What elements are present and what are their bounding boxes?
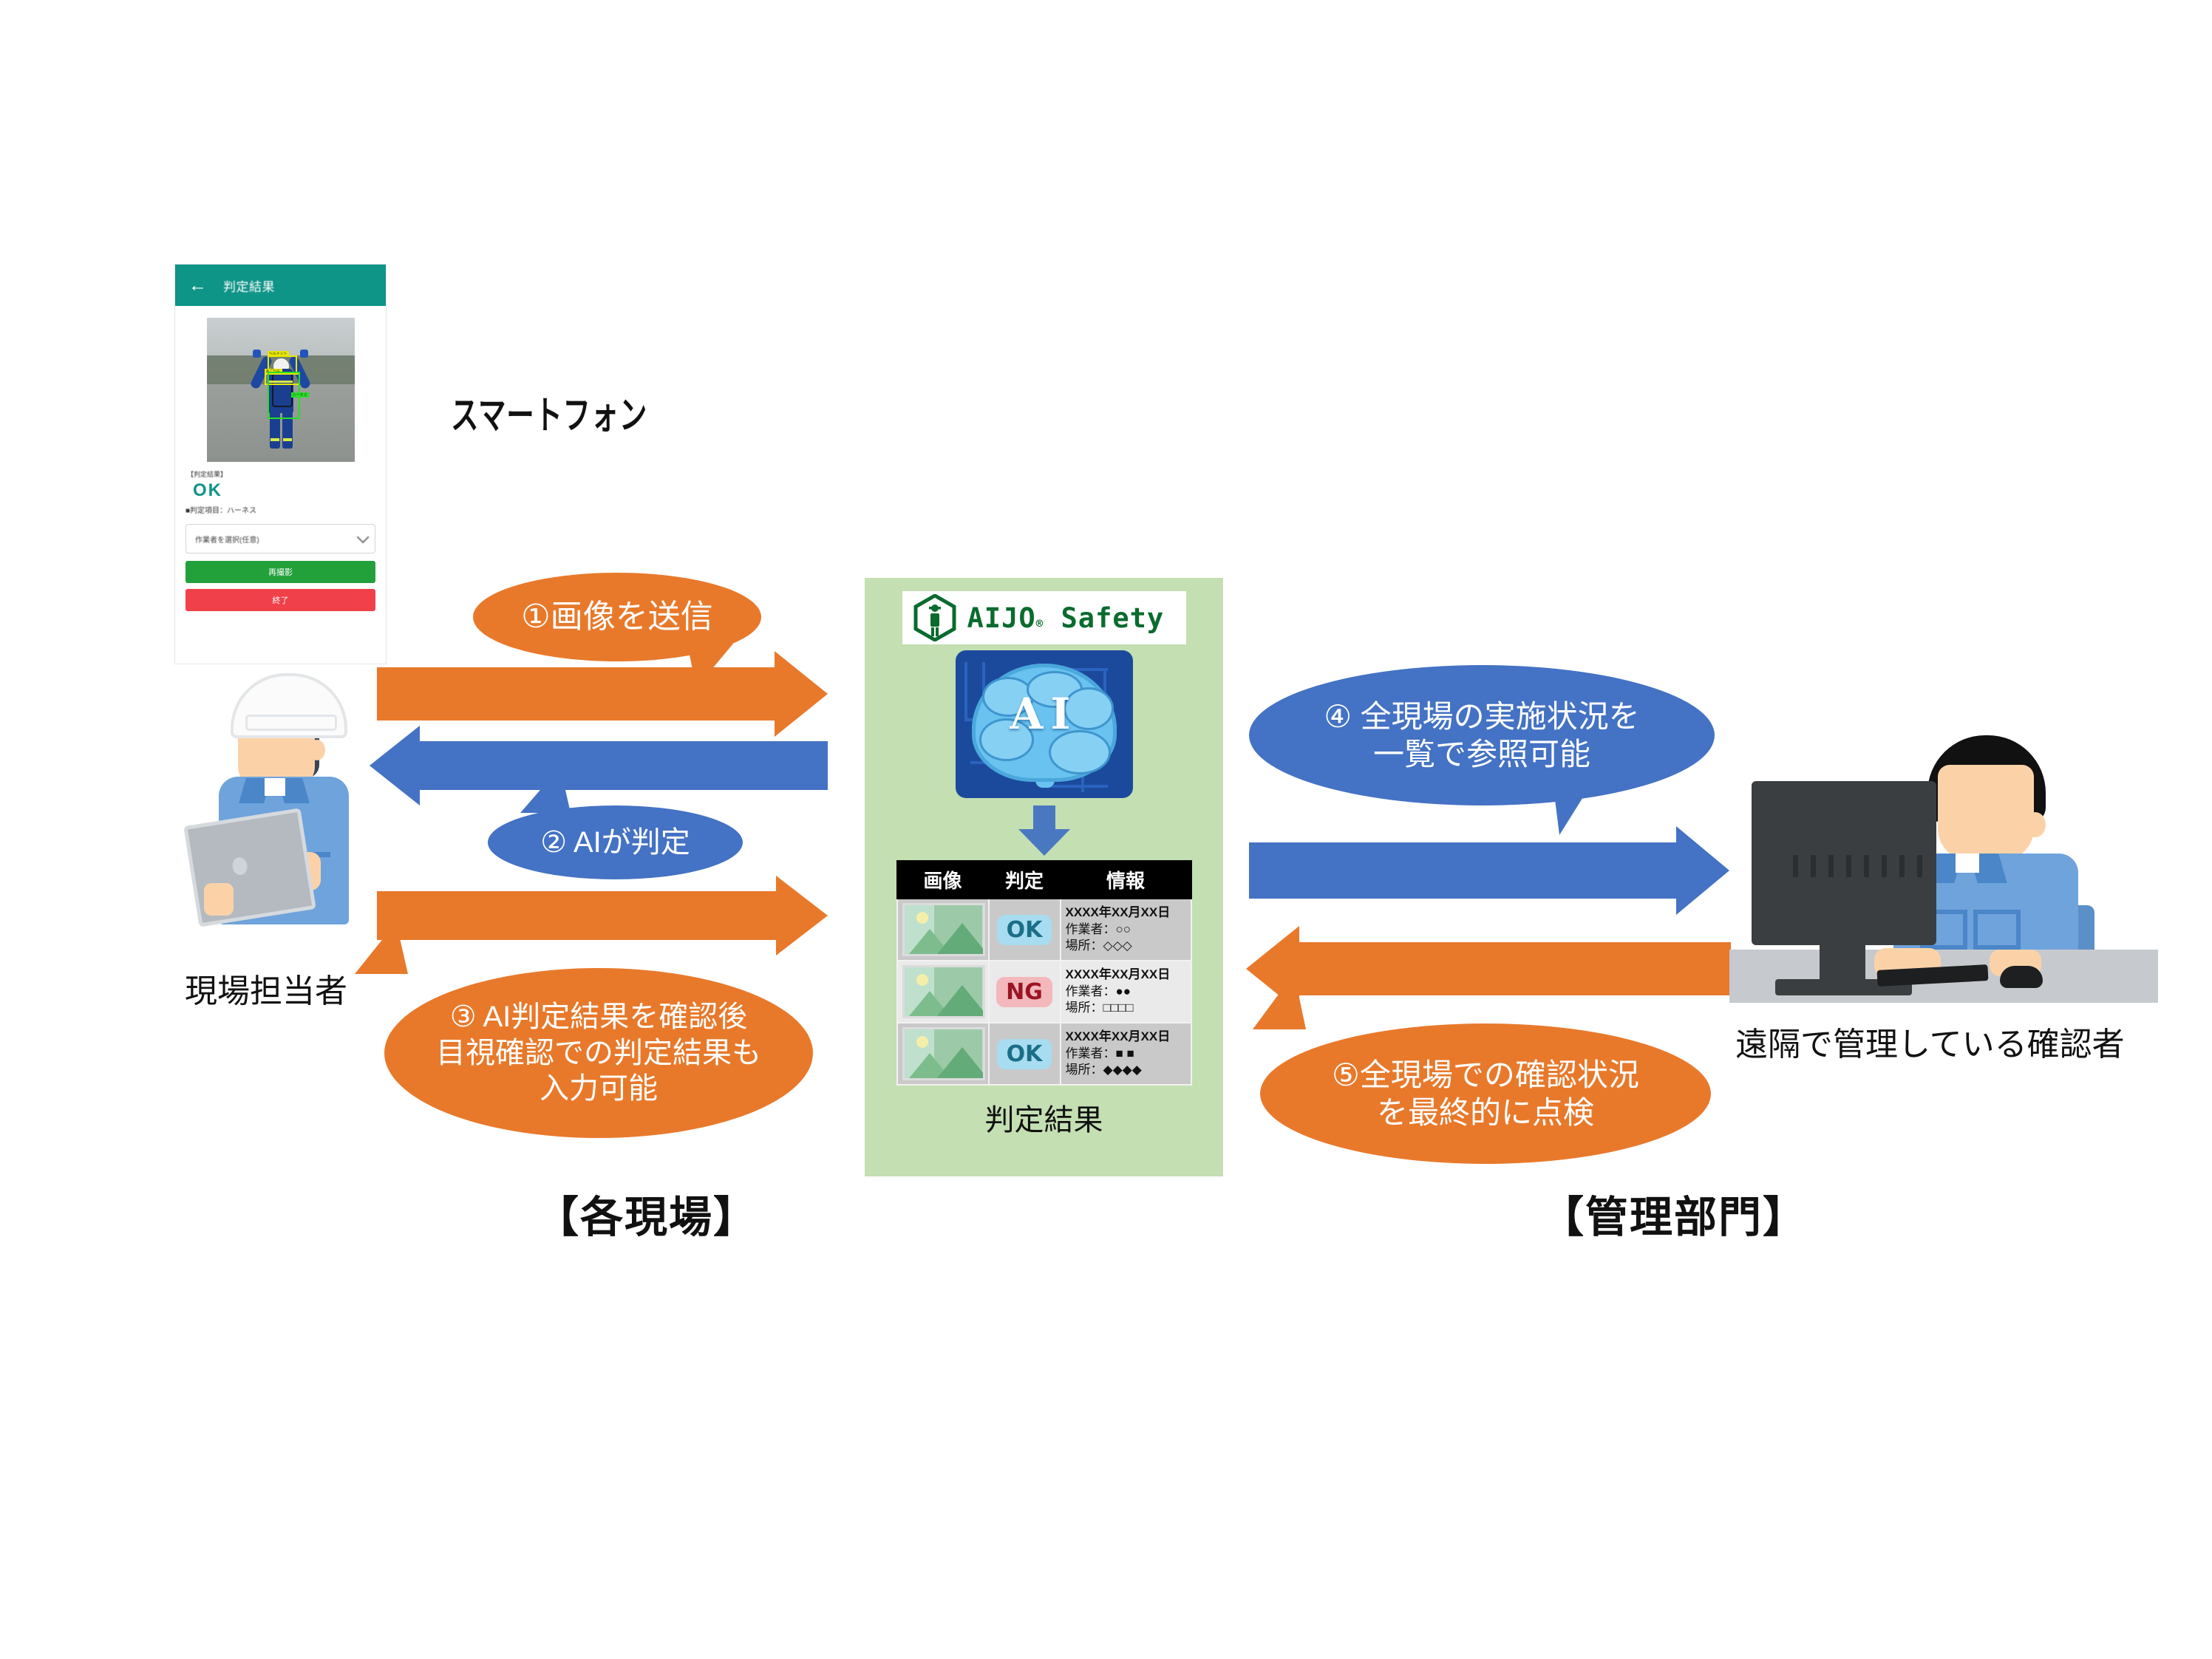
- callout-3-line3: 入力可能: [540, 1071, 658, 1107]
- detection-box-harness: ハーネス: [268, 372, 300, 419]
- judgement-results-table: 画像 判定 情報 OK XXXX年XX月XX日 作業者：○○: [896, 860, 1192, 1086]
- th-image: 画像: [897, 861, 989, 899]
- cell-judge: OK: [989, 1023, 1061, 1085]
- office-worker-illustration: [1729, 735, 2165, 1009]
- ai-system-panel: AIJO® Safety AI 画像 判定 情報: [865, 578, 1223, 1176]
- worker-hexagon-icon: [913, 594, 957, 641]
- callout-3: ③ AI判定結果を確認後 目視確認での判定結果も 入力可能: [384, 968, 813, 1138]
- cell-judge: NG: [989, 961, 1061, 1023]
- phone-result-label: 【判定結果】: [187, 469, 386, 479]
- worker-select-dropdown[interactable]: 作業者を選択(任意): [186, 524, 375, 553]
- smartphone-mockup: ← 判定結果 ヘルメット あごひも ハーネス 【: [175, 265, 386, 664]
- section-label-right: 【管理部門】: [1541, 1182, 1807, 1244]
- worker-select-value: 作業者を選択(任意): [195, 534, 259, 545]
- row-date: XXXX年XX月XX日: [1066, 905, 1186, 921]
- callout-4: ④ 全現場の実施状況を 一覧で参照可能: [1249, 665, 1715, 805]
- th-judge: 判定: [989, 861, 1061, 899]
- helmet-icon: [231, 673, 347, 738]
- cell-info: XXXX年XX月XX日 作業者：■ ■ 場所：◆◆◆◆: [1061, 1023, 1191, 1085]
- photo-thumbnail-icon: [902, 965, 985, 1018]
- mouse-icon: [2000, 966, 2043, 988]
- row-place: 場所：◆◆◆◆: [1066, 1062, 1186, 1078]
- status-badge: OK: [997, 915, 1052, 945]
- callout-2: ② AIが判定: [488, 805, 743, 879]
- callout-5: ⑤全現場での確認状況 を最終的に点検: [1260, 1023, 1711, 1164]
- finish-button[interactable]: 終了: [186, 589, 375, 611]
- phone-photo: ヘルメット あごひも ハーネス: [207, 318, 355, 462]
- status-badge: OK: [997, 1039, 1052, 1069]
- photo-thumbnail-icon: [902, 903, 985, 956]
- table-header-row: 画像 判定 情報: [897, 861, 1191, 899]
- callout-2-text: ② AIが判定: [540, 825, 690, 861]
- phone-result-value: OK: [193, 480, 386, 501]
- row-place: 場所：◇◇◇: [1066, 938, 1186, 954]
- field-worker-label: 現場担当者: [185, 964, 347, 1012]
- callout-4-line1: ④ 全現場の実施状況を: [1324, 698, 1639, 735]
- smartphone-caption: スマートフォン: [451, 384, 647, 440]
- arrow-from-manager: [1246, 942, 1731, 995]
- callout-1-text: ①画像を送信: [521, 597, 712, 637]
- row-place: 場所：□□□□: [1066, 1000, 1186, 1016]
- results-caption: 判定結果: [865, 1096, 1223, 1139]
- cell-info: XXXX年XX月XX日 作業者：○○ 場所：◇◇◇: [1061, 899, 1191, 961]
- office-worker-label: 遠隔で管理している確認者: [1735, 1018, 2125, 1065]
- table-row[interactable]: OK XXXX年XX月XX日 作業者：○○ 場所：◇◇◇: [897, 899, 1191, 961]
- callout-5-line1: ⑤全現場での確認状況: [1332, 1056, 1639, 1094]
- arrow-ai-result: [370, 741, 828, 790]
- section-label-left: 【各現場】: [536, 1182, 758, 1244]
- field-worker-illustration: [177, 661, 399, 950]
- phone-judged-item: ■判定項目：ハーネス: [186, 504, 386, 515]
- monitor-icon: [1752, 781, 1936, 945]
- row-date: XXXX年XX月XX日: [1066, 967, 1186, 983]
- arrow-to-manager: [1249, 842, 1729, 899]
- photo-thumbnail-icon: [902, 1027, 985, 1080]
- row-worker: 作業者：■ ■: [1066, 1046, 1186, 1062]
- arrow-send-image: [377, 667, 828, 721]
- cell-info: XXXX年XX月XX日 作業者：●● 場所：□□□□: [1061, 961, 1191, 1023]
- row-date: XXXX年XX月XX日: [1066, 1029, 1186, 1045]
- th-info: 情報: [1061, 861, 1191, 899]
- phone-app-header: ← 判定結果: [175, 265, 386, 306]
- aijo-safety-wordmark: AIJO® Safety: [967, 602, 1165, 634]
- row-worker: 作業者：○○: [1066, 922, 1186, 938]
- cell-image: [897, 961, 989, 1023]
- callout-4-line2: 一覧で参照可能: [1373, 735, 1590, 773]
- retake-button[interactable]: 再撮影: [186, 561, 375, 583]
- cell-image: [897, 899, 989, 961]
- ai-label: AI: [956, 689, 1133, 739]
- callout-3-line2: 目視確認での判定結果も: [436, 1035, 761, 1072]
- callout-5-line2: を最終的に点検: [1377, 1094, 1594, 1131]
- phone-header-title: 判定結果: [223, 276, 275, 295]
- callout-3-line1: ③ AI判定結果を確認後: [450, 999, 748, 1035]
- table-row[interactable]: NG XXXX年XX月XX日 作業者：●● 場所：□□□□: [897, 961, 1191, 1023]
- cell-judge: OK: [989, 899, 1061, 961]
- arrow-visual-check: [377, 891, 828, 940]
- down-arrow-icon: [1018, 805, 1070, 856]
- table-row[interactable]: OK XXXX年XX月XX日 作業者：■ ■ 場所：◆◆◆◆: [897, 1023, 1191, 1085]
- status-badge: NG: [996, 977, 1052, 1007]
- ai-brain-graphic: AI: [956, 650, 1133, 798]
- chevron-down-icon: [357, 531, 370, 543]
- back-arrow-icon[interactable]: ←: [188, 276, 207, 295]
- cell-image: [897, 1023, 989, 1085]
- callout-1: ①画像を送信: [473, 573, 761, 661]
- photo-worker-figure: ヘルメット あごひも ハーネス: [262, 347, 300, 450]
- row-worker: 作業者：●●: [1066, 984, 1186, 1000]
- aijo-safety-logo: AIJO® Safety: [902, 591, 1186, 644]
